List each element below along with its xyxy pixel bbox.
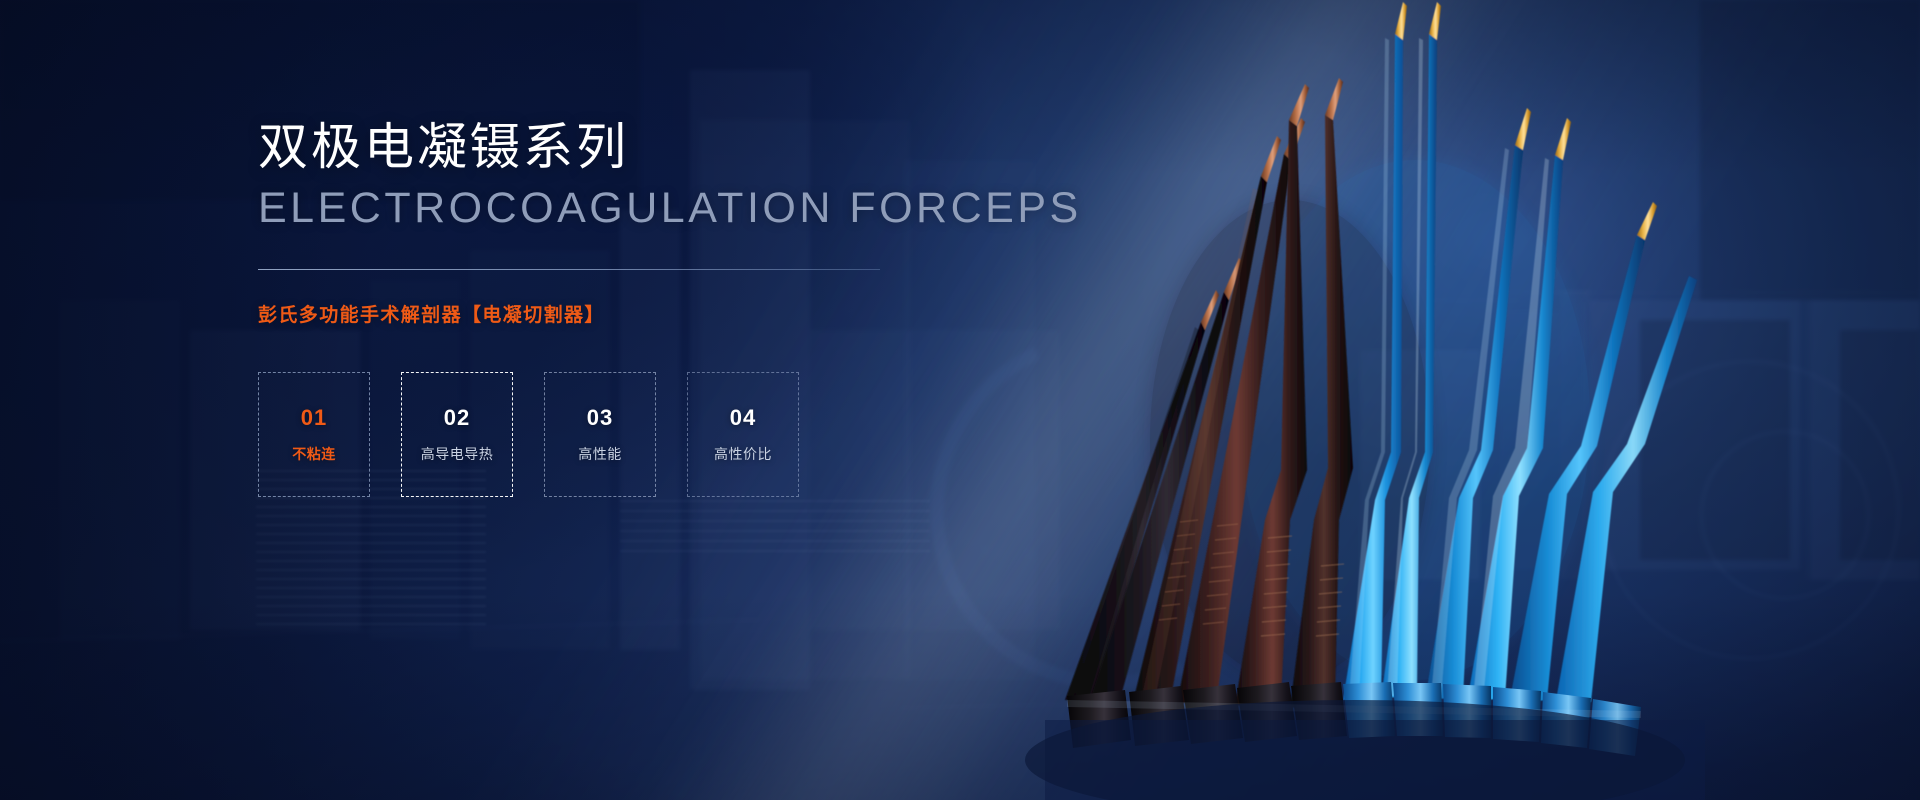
feature-label: 高性价比 <box>714 444 772 464</box>
feature-label: 不粘连 <box>292 444 336 464</box>
feature-label: 高性能 <box>578 444 622 464</box>
feature-number: 02 <box>444 405 470 431</box>
banner-title-cn: 双极电凝镊系列 <box>258 118 1118 177</box>
background-blinds <box>256 470 486 670</box>
feature-number: 04 <box>730 405 756 431</box>
background-blinds-2 <box>620 500 930 590</box>
title-divider <box>258 269 880 270</box>
feature-number: 01 <box>301 405 327 431</box>
product-image-forceps-fan <box>1085 0 1645 800</box>
banner-title-en: ELECTROCOAGULATION FORCEPS <box>258 183 1118 235</box>
feature-box-04[interactable]: 04 高性价比 <box>687 372 799 497</box>
feature-label: 高导电导热 <box>421 444 494 464</box>
feature-number: 03 <box>587 405 613 431</box>
feature-box-list: 01 不粘连 02 高导电导热 03 高性能 04 高性价比 <box>258 372 1118 497</box>
feature-box-02[interactable]: 02 高导电导热 <box>401 372 513 497</box>
banner-content: 双极电凝镊系列 ELECTROCOAGULATION FORCEPS 彭氏多功能… <box>258 118 1118 497</box>
banner-subtitle: 彭氏多功能手术解剖器【电凝切割器】 <box>258 300 1118 327</box>
product-banner: 双极电凝镊系列 ELECTROCOAGULATION FORCEPS 彭氏多功能… <box>0 0 1920 800</box>
feature-box-01[interactable]: 01 不粘连 <box>258 372 370 497</box>
feature-box-03[interactable]: 03 高性能 <box>544 372 656 497</box>
